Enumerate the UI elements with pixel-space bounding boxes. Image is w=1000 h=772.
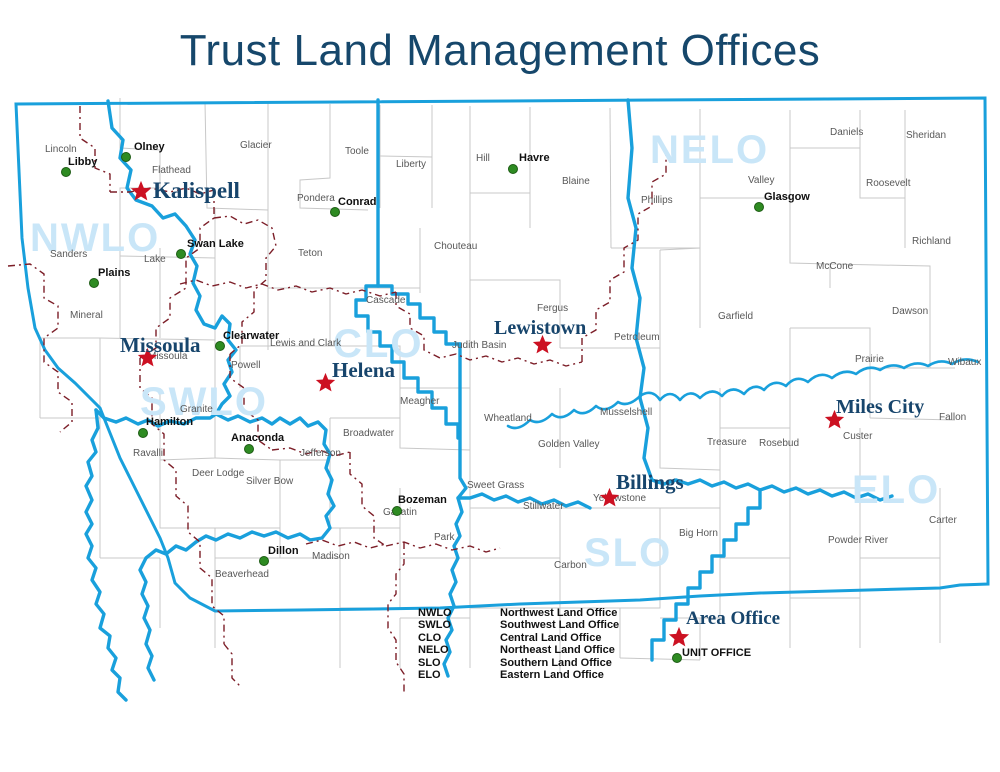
legend-abbr: ELO (418, 669, 500, 681)
page-title: Trust Land Management Offices (0, 26, 1000, 76)
legend-row: ELOEastern Land Office (418, 668, 619, 680)
legend-unit-office-dot-icon (672, 653, 682, 663)
legend-row: SLOSouthern Land Office (418, 656, 619, 668)
legend-desc: Eastern Land Office (500, 669, 604, 681)
legend-desc: Southwest Land Office (500, 619, 619, 631)
legend-row: NELONortheast Land Office (418, 643, 619, 655)
legend-area-office-label: Area Office (686, 608, 780, 630)
legend-row: CLOCentral Land Office (418, 631, 619, 643)
legend-office-codes: NWLONorthwest Land Office SWLOSouthwest … (418, 606, 619, 680)
legend-star-icon (668, 626, 690, 648)
legend-unit-office-label: UNIT OFFICE (682, 647, 751, 659)
legend-abbr: NELO (418, 644, 500, 656)
legend-row: NWLONorthwest Land Office (418, 606, 619, 618)
legend-abbr: SWLO (418, 619, 500, 631)
legend-desc: Northeast Land Office (500, 644, 615, 656)
rivers (508, 359, 978, 428)
legend-row: SWLOSouthwest Land Office (418, 618, 619, 630)
state-outline (16, 98, 988, 611)
reservation-boundaries (8, 106, 666, 692)
